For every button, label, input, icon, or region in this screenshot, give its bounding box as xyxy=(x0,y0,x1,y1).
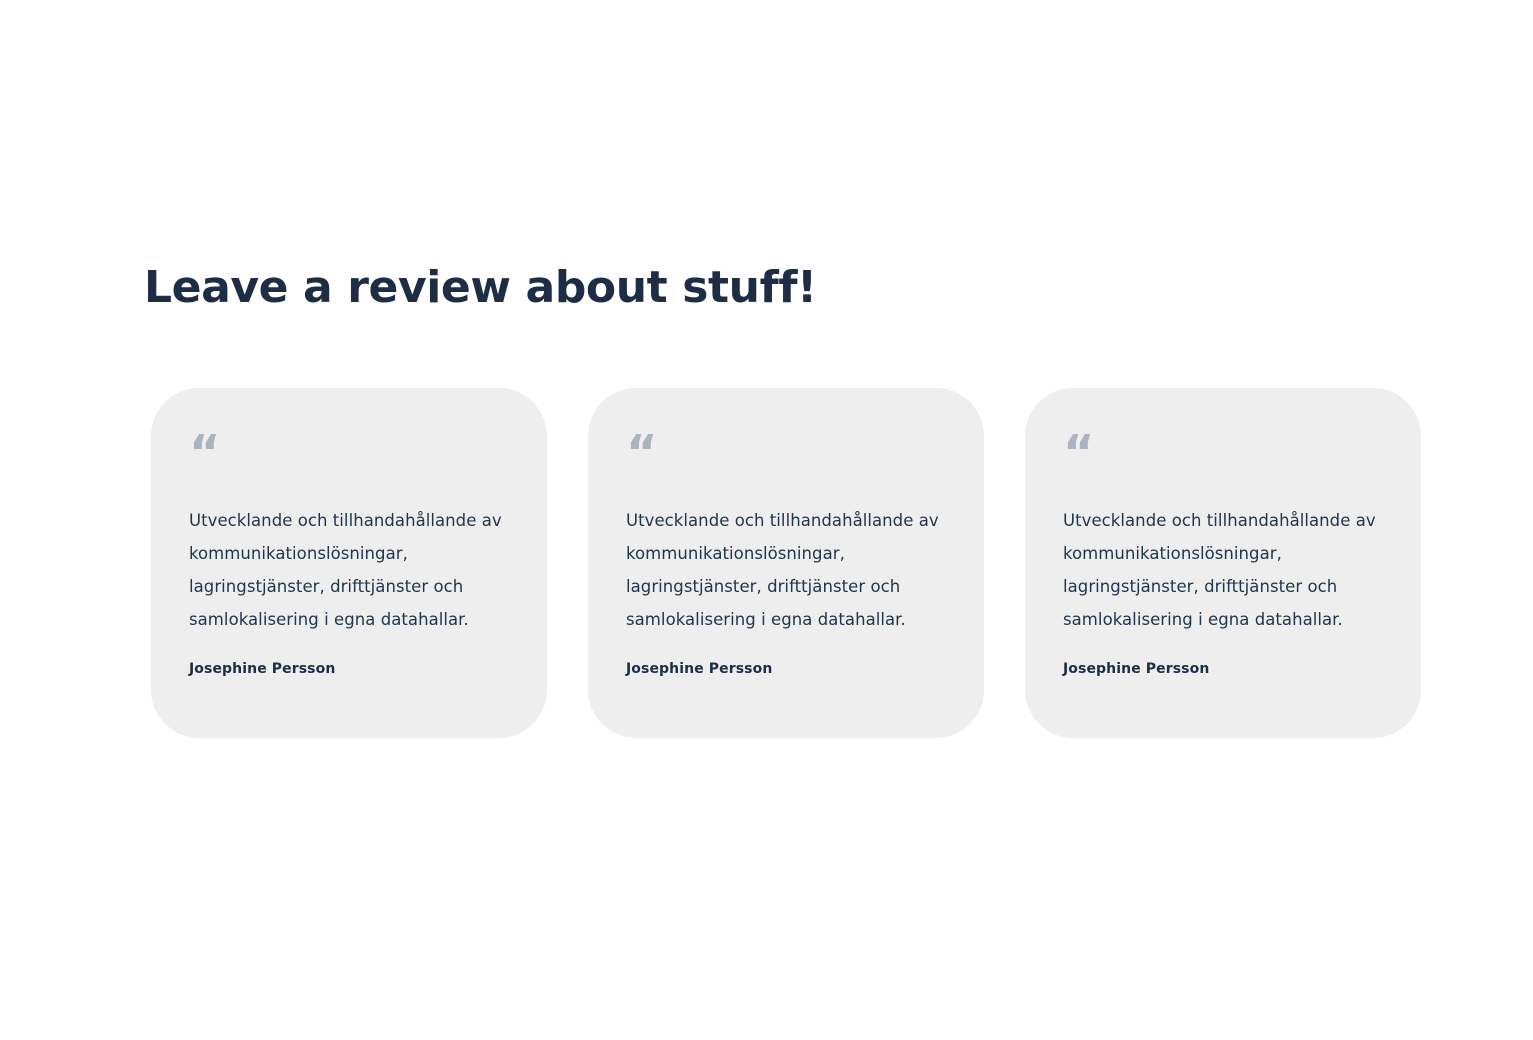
review-quote-text: Utvecklande och tillhandahållande av kom… xyxy=(189,504,509,636)
review-card: “ Utvecklande och tillhandahållande av k… xyxy=(1025,388,1421,738)
left-double-quote-icon: “ xyxy=(189,436,509,470)
testimonials-page: Leave a review about stuff! “ Utveckland… xyxy=(0,0,1533,1040)
review-author-name: Josephine Persson xyxy=(1063,659,1383,679)
review-card-list: “ Utvecklande och tillhandahållande av k… xyxy=(151,388,1421,738)
review-quote-text: Utvecklande och tillhandahållande av kom… xyxy=(1063,504,1383,636)
left-double-quote-icon: “ xyxy=(1063,436,1383,470)
left-double-quote-icon: “ xyxy=(626,436,946,470)
review-author-name: Josephine Persson xyxy=(189,659,509,679)
page-title: Leave a review about stuff! xyxy=(144,262,1421,314)
review-card: “ Utvecklande och tillhandahållande av k… xyxy=(151,388,547,738)
reviews-section: Leave a review about stuff! “ Utveckland… xyxy=(144,262,1421,738)
review-card: “ Utvecklande och tillhandahållande av k… xyxy=(588,388,984,738)
review-quote-text: Utvecklande och tillhandahållande av kom… xyxy=(626,504,946,636)
review-author-name: Josephine Persson xyxy=(626,659,946,679)
